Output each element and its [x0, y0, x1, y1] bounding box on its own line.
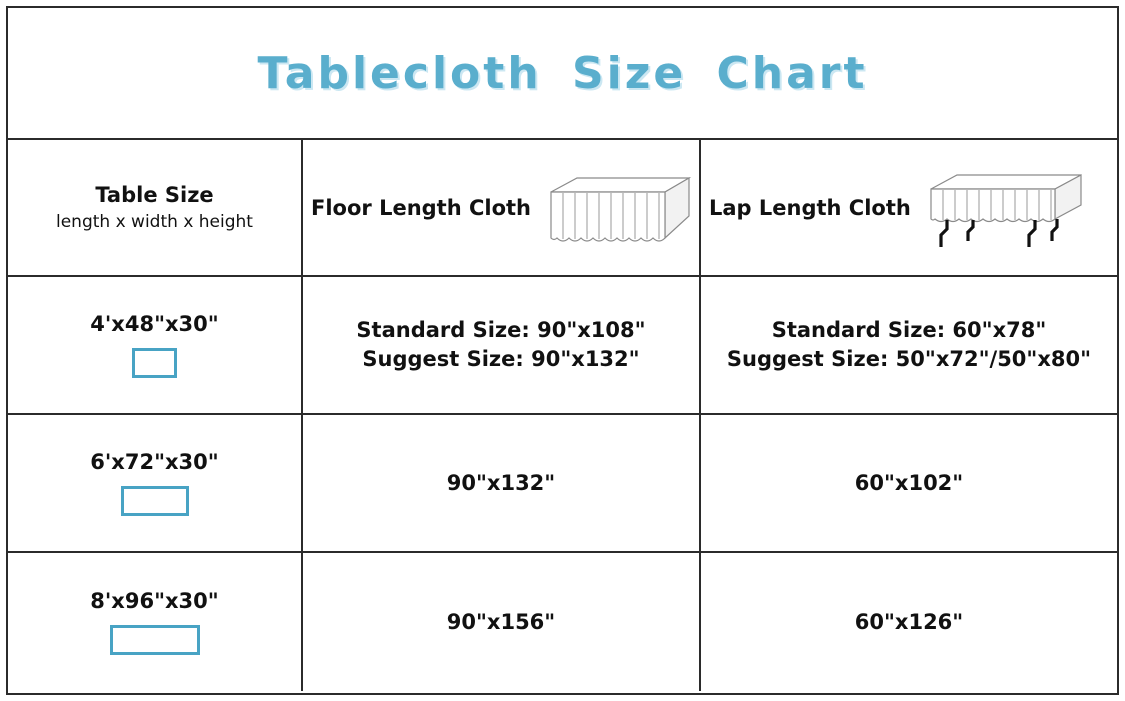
lap-length-spec: 60"x102": [855, 469, 964, 498]
floor-standard-size: Standard Size: 90"x108": [356, 316, 645, 345]
table-shape-swatch: [121, 486, 189, 516]
floor-length-spec: 90"x156": [447, 608, 556, 637]
floor-length-cell: 90"x156": [303, 553, 701, 691]
lap-standard-size: Standard Size: 60"x78": [727, 316, 1091, 345]
table-row: 6'x72"x30" 90"x132" 60"x102": [8, 415, 1117, 553]
header-cell-floor-length: Floor Length Cloth: [303, 140, 701, 275]
table-shape-swatch: [110, 625, 200, 655]
table-size-title: Table Size: [95, 182, 213, 209]
table-size-value: 6'x72"x30": [90, 450, 218, 474]
floor-length-spec: 90"x132": [447, 469, 556, 498]
page-title: Tablecloth Size Chart: [257, 48, 867, 99]
table-row: 8'x96"x30" 90"x156" 60"x126": [8, 553, 1117, 691]
table-size-cell: 8'x96"x30": [8, 553, 303, 691]
table-size-subtitle: length x width x height: [56, 211, 253, 233]
lap-length-label: Lap Length Cloth: [709, 196, 911, 220]
floor-length-cell: Standard Size: 90"x108" Suggest Size: 90…: [303, 277, 701, 413]
lap-suggest-size: Suggest Size: 50"x72"/50"x80": [727, 345, 1091, 374]
title-row: Tablecloth Size Chart: [8, 8, 1117, 140]
size-chart-container: Tablecloth Size Chart Table Size length …: [6, 6, 1119, 695]
lap-length-cell: 60"x102": [701, 415, 1117, 551]
lap-length-cell: 60"x126": [701, 553, 1117, 691]
table-shape-swatch: [132, 348, 177, 378]
floor-length-label: Floor Length Cloth: [311, 196, 531, 220]
table-header-row: Table Size length x width x height Floor…: [8, 140, 1117, 277]
table-size-value: 4'x48"x30": [90, 312, 218, 336]
lap-length-spec: Standard Size: 60"x78" Suggest Size: 50"…: [727, 316, 1091, 374]
table-size-value: 8'x96"x30": [90, 589, 218, 613]
header-cell-table-size: Table Size length x width x height: [8, 140, 303, 275]
table-row: 4'x48"x30" Standard Size: 90"x108" Sugge…: [8, 277, 1117, 415]
table-size-cell: 6'x72"x30": [8, 415, 303, 551]
table-size-cell: 4'x48"x30": [8, 277, 303, 413]
header-cell-lap-length: Lap Length Cloth: [701, 140, 1117, 275]
size-table: Table Size length x width x height Floor…: [8, 140, 1117, 693]
lap-length-cell: Standard Size: 60"x78" Suggest Size: 50"…: [701, 277, 1117, 413]
floor-suggest-size: Suggest Size: 90"x132": [356, 345, 645, 374]
lap-length-spec: 60"x126": [855, 608, 964, 637]
floor-length-spec: Standard Size: 90"x108" Suggest Size: 90…: [356, 316, 645, 374]
floor-length-cell: 90"x132": [303, 415, 701, 551]
lap-length-cloth-icon: [917, 163, 1092, 253]
floor-length-cloth-icon: [537, 168, 697, 248]
